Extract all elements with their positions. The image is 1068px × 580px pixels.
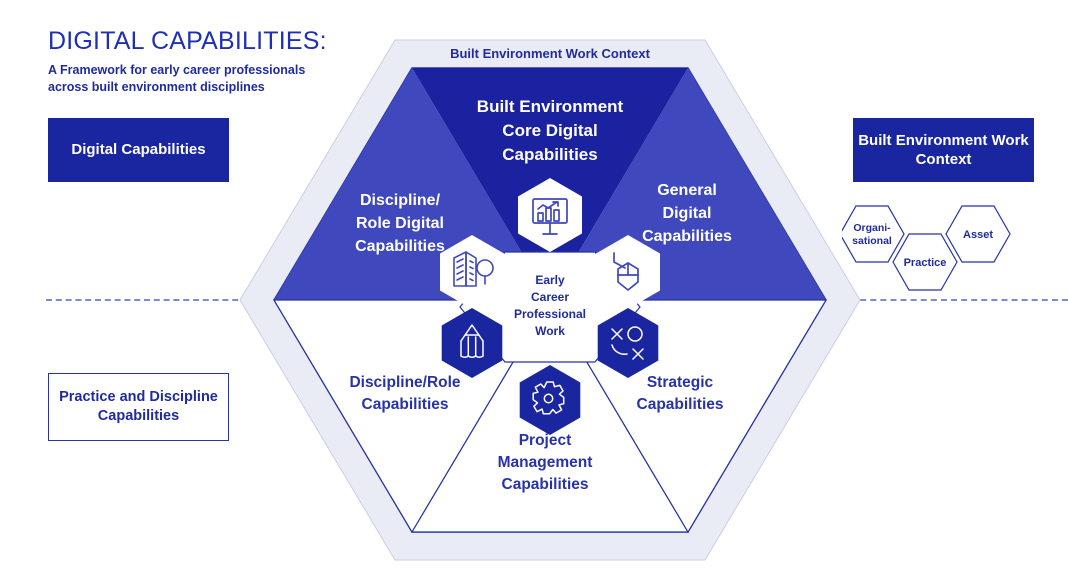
svg-text:Role Digital: Role Digital — [356, 215, 444, 232]
legend-practice-and-discipline-capabilities: Practice and Discipline Capabilities — [48, 373, 229, 441]
context-hex-cluster: Organi- sational Asset Practice — [842, 190, 1042, 300]
svg-text:General: General — [657, 182, 717, 199]
context-hex-asset: Asset — [946, 206, 1010, 262]
svg-text:Capabilities: Capabilities — [362, 396, 449, 413]
outer-ring-label: Built Environment Work Context — [450, 46, 650, 61]
context-hex-organisational: Organi- sational — [842, 206, 904, 262]
svg-text:Built Environment: Built Environment — [477, 97, 624, 116]
svg-text:Asset: Asset — [963, 229, 993, 241]
legend-built-environment-work-context: Built Environment Work Context — [853, 118, 1034, 182]
capability-hexagon-diagram: Built Environment Work Context Built Env… — [240, 30, 860, 570]
svg-text:Discipline/Role: Discipline/Role — [349, 374, 460, 391]
svg-text:Capabilities: Capabilities — [502, 476, 589, 493]
svg-text:Early: Early — [535, 273, 565, 287]
svg-text:Core Digital: Core Digital — [502, 121, 597, 140]
svg-text:Work: Work — [535, 324, 565, 338]
svg-text:Capabilities: Capabilities — [355, 238, 445, 255]
svg-text:Project: Project — [519, 432, 572, 449]
context-hex-practice: Practice — [893, 234, 957, 290]
svg-text:Professional: Professional — [514, 307, 586, 321]
svg-text:Capabilities: Capabilities — [642, 228, 732, 245]
svg-text:Strategic: Strategic — [647, 374, 714, 391]
svg-text:Practice: Practice — [904, 257, 947, 269]
svg-text:Digital: Digital — [663, 205, 712, 222]
legend-digital-capabilities: Digital Capabilities — [48, 118, 229, 182]
divider-dashed-left — [46, 299, 248, 301]
svg-text:Career: Career — [531, 290, 569, 304]
svg-text:Discipline/: Discipline/ — [360, 192, 441, 209]
svg-text:Management: Management — [498, 454, 593, 471]
label-discipline-role-digital: Discipline/ Role Digital Capabilities — [355, 192, 445, 255]
svg-text:Capabilities: Capabilities — [637, 396, 724, 413]
svg-text:Organi-: Organi- — [853, 222, 891, 234]
svg-text:Capabilities: Capabilities — [502, 145, 597, 164]
svg-text:sational: sational — [852, 235, 892, 247]
